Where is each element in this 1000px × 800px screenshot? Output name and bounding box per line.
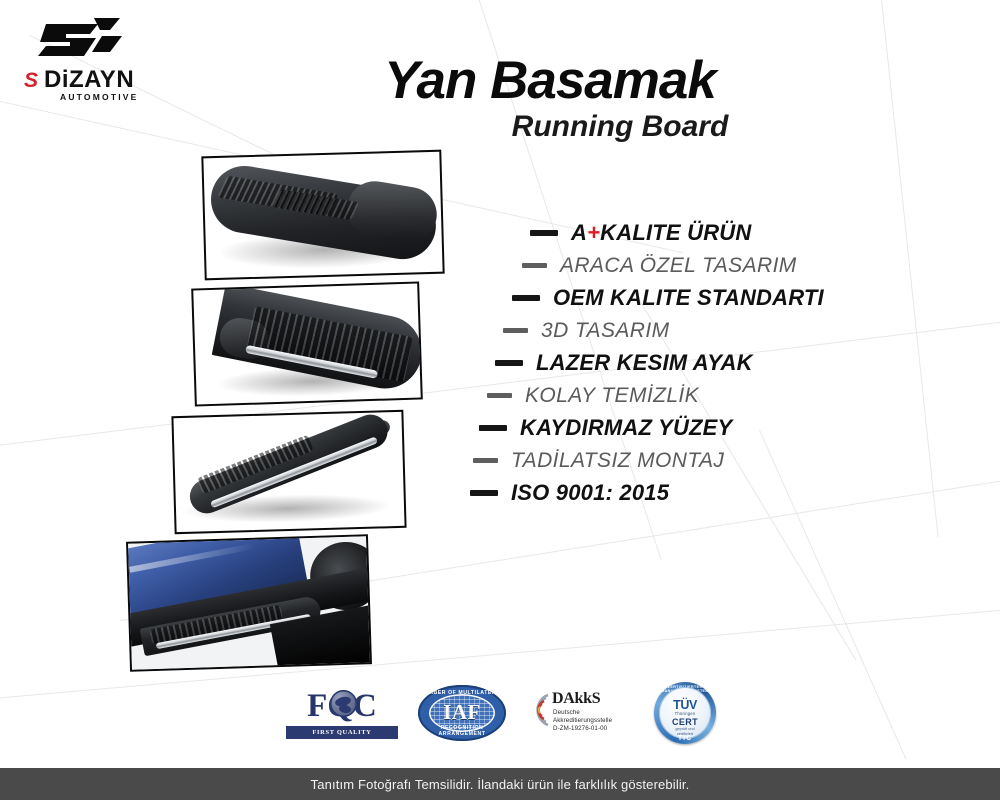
certification-badges: FQC FIRST QUALITY CERTIFICATION MEMBER O… (286, 680, 716, 746)
fqc-certificate-badge: FQC FIRST QUALITY CERTIFICATION (286, 685, 398, 741)
dakks-details: Deutsche Akkreditierungsstelle D-ZM-1927… (553, 709, 635, 734)
feature-plus-accent: + (587, 220, 600, 245)
feature-label-prefix: A (571, 220, 587, 245)
dakks-line-1: Deutsche (553, 709, 635, 717)
dakks-certificate-badge: DAkkS Deutsche Akkreditierungsstelle D-Z… (526, 687, 634, 739)
feature-item: KOLAY TEMİZLİK (487, 385, 940, 406)
footer-disclaimer: Tanıtım Fotoğrafı Temsilidir. İlandaki ü… (311, 777, 690, 792)
brand-logo: S DiZAYN AUTOMOTIVE (22, 16, 172, 102)
feature-dash-icon (479, 425, 507, 431)
dakks-arcs-icon (526, 693, 552, 727)
feature-item: A+KALITE ÜRÜN (530, 222, 940, 244)
tuv-word: TÜV (659, 699, 711, 711)
iaf-bottom-text: RECOGNITION ARRANGEMENT (418, 725, 506, 737)
feature-dash-icon (522, 263, 547, 268)
advertisement-canvas: S DiZAYN AUTOMOTIVE Yan Basamak Running … (0, 0, 1000, 800)
product-photo-full-length (171, 410, 406, 534)
dakks-line-2: Akkreditierungsstelle (553, 717, 635, 725)
s-dizayn-logo-icon (36, 16, 122, 64)
feature-dash-icon (487, 393, 512, 398)
feature-item: ISO 9001: 2015 (470, 482, 940, 504)
tuv-certificate-badge: ZERTIFIZIERTES MANAGEMENTSYSTEM TÜV Thür… (654, 682, 716, 744)
feature-label-suffix: KALITE ÜRÜN (600, 220, 751, 245)
feature-label: A+KALITE ÜRÜN (571, 222, 751, 244)
iaf-top-text: MEMBER OF MULTILATERAL (418, 690, 506, 696)
product-photo-installed-on-vehicle (126, 534, 372, 672)
feature-item: TADİLATSIZ MONTAJ (473, 450, 940, 471)
feature-item: ARACA ÖZEL TASARIM (522, 255, 940, 276)
dakks-name: DAkkS (552, 690, 600, 707)
tuv-region: Thüringen (659, 711, 711, 716)
feature-dash-icon (473, 458, 498, 463)
feature-dash-icon (470, 490, 498, 496)
dakks-line-3: D-ZM-19276-01-00 (553, 725, 635, 733)
feature-item: OEM KALITE STANDARTI (512, 287, 940, 309)
iaf-certificate-badge: MEMBER OF MULTILATERAL IAF RECOGNITION A… (418, 685, 506, 741)
brand-name: DiZAYN (44, 68, 134, 92)
feature-dash-icon (495, 360, 523, 366)
footer-bar: Tanıtım Fotoğrafı Temsilidir. İlandaki ü… (0, 768, 1000, 800)
feature-dash-icon (512, 295, 540, 301)
feature-item: KAYDIRMAZ YÜZEY (479, 417, 940, 439)
page-subtitle: Running Board (360, 112, 880, 142)
feature-label: 3D TASARIM (541, 320, 669, 341)
tuv-tic-label: TIC (654, 735, 716, 742)
feature-label: LAZER KESIM AYAK (536, 352, 753, 374)
feature-item: 3D TASARIM (503, 320, 940, 341)
feature-label: TADİLATSIZ MONTAJ (511, 450, 724, 471)
globe-icon (330, 690, 357, 717)
tuv-face: TÜV Thüringen CERT geprüft und zertifizi… (659, 687, 711, 739)
brand-s-letter: S (24, 70, 37, 91)
feature-label: ISO 9001: 2015 (511, 482, 669, 504)
fqc-band-text: FIRST QUALITY CERTIFICATION (286, 726, 398, 739)
feature-label: KOLAY TEMİZLİK (525, 385, 699, 406)
tuv-cert-label: CERT (659, 717, 711, 727)
feature-label: KAYDIRMAZ YÜZEY (520, 417, 732, 439)
iaf-acronym: IAF (418, 701, 506, 723)
product-photo-angled-step (201, 150, 444, 281)
brand-wordmark: S DiZAYN (24, 68, 134, 92)
feature-dash-icon (503, 328, 528, 333)
feature-label: OEM KALITE STANDARTI (553, 287, 824, 309)
page-title: Yan Basamak (290, 54, 810, 107)
feature-item: LAZER KESIM AYAK (495, 352, 940, 374)
product-photo-top-view (191, 281, 423, 406)
feature-list: A+KALITE ÜRÜNARACA ÖZEL TASARIMOEM KALIT… (470, 222, 940, 515)
brand-tagline: AUTOMOTIVE (60, 92, 139, 102)
feature-dash-icon (530, 230, 558, 236)
feature-label: ARACA ÖZEL TASARIM (560, 255, 797, 276)
